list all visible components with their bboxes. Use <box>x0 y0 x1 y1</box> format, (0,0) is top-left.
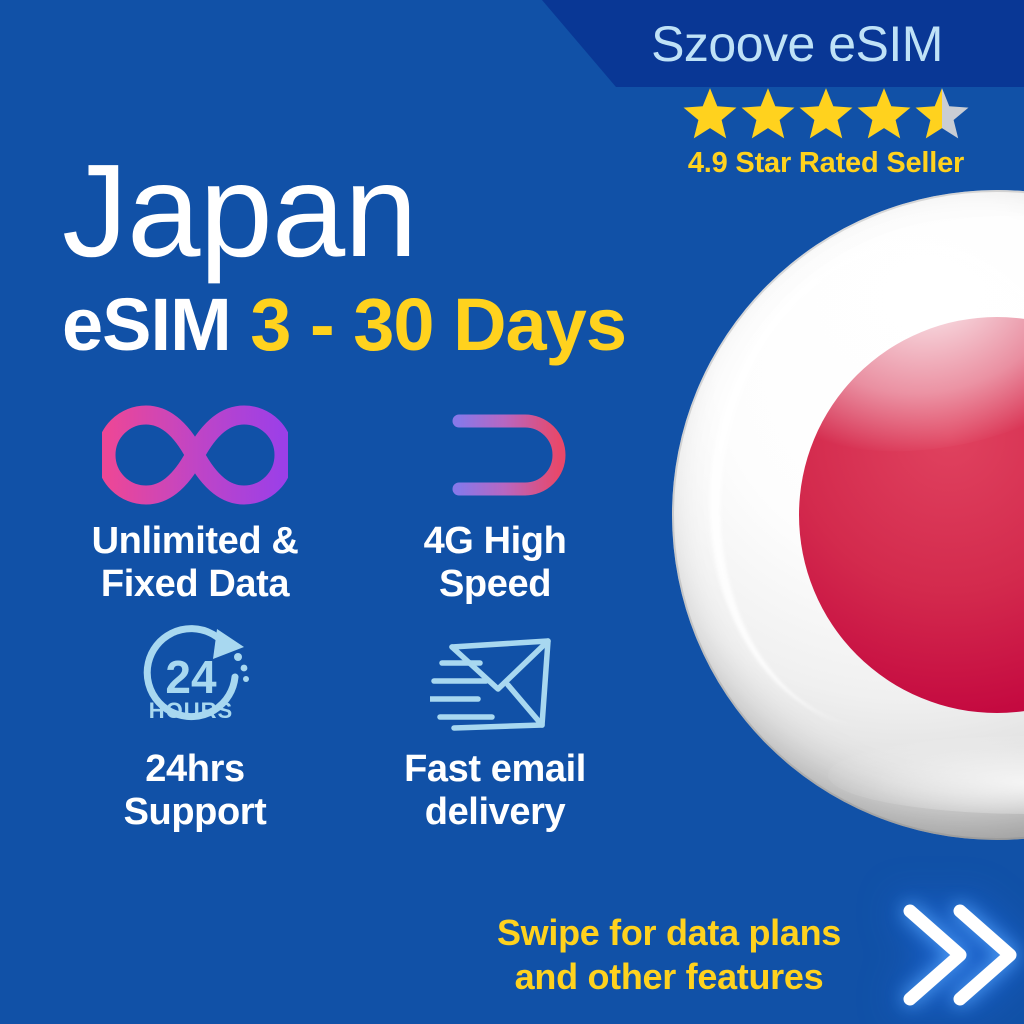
page-title-country: Japan <box>62 145 417 277</box>
feature-4g-speed: 4G High Speed <box>350 400 640 628</box>
feature-email-delivery: Fast email delivery <box>350 628 640 860</box>
feature-label-line2: Support <box>124 791 267 833</box>
subtitle-product: eSIM <box>62 283 231 366</box>
feature-label-line2: delivery <box>425 791 565 833</box>
swipe-cta-text: Swipe for data plans and other features <box>452 911 886 999</box>
swipe-cta-line1: Swipe for data plans <box>497 912 841 953</box>
feature-label-line2: Speed <box>439 563 551 605</box>
brand-name: Szoove eSIM <box>530 0 1024 87</box>
star-icon-3 <box>799 87 853 139</box>
star-icon-5-half <box>915 87 969 139</box>
feature-label-line1: 4G High <box>424 520 567 562</box>
swipe-cta[interactable]: Swipe for data plans and other features <box>452 896 1024 1014</box>
feature-label-line2: Fixed Data <box>101 563 289 605</box>
seller-rating-block: 4.9 Star Rated Seller <box>628 88 1024 180</box>
svg-text:HOURS: HOURS <box>149 698 233 723</box>
double-chevron-right-icon[interactable] <box>898 899 1024 1011</box>
star-icon-2 <box>741 87 795 139</box>
orb-rim <box>672 190 1024 840</box>
star-icon-4 <box>857 87 911 139</box>
rating-caption: 4.9 Star Rated Seller <box>688 147 964 180</box>
feature-label-line1: Fast email <box>404 748 586 790</box>
feature-unlimited-data: Unlimited & Fixed Data <box>40 400 350 628</box>
feature-label-line1: 24hrs <box>145 748 244 790</box>
feature-grid: Unlimited & Fixed Data <box>40 400 640 860</box>
feature-label-24hrs-support: 24hrs Support <box>124 748 267 834</box>
flying-envelope-icon <box>430 628 560 738</box>
page-subtitle: eSIM 3 - 30 Days <box>62 288 626 362</box>
feature-label-4g-speed: 4G High Speed <box>424 520 567 606</box>
speed-icon <box>419 400 571 510</box>
feature-label-email-delivery: Fast email delivery <box>404 748 586 834</box>
esim-promo-poster: Szoove eSIM <box>0 0 1024 1024</box>
feature-24hrs-support: 24 HOURS 24hrs Support <box>40 628 350 860</box>
swipe-cta-line2: and other features <box>515 956 824 997</box>
feature-label-line1: Unlimited & <box>92 520 299 562</box>
feature-label-unlimited-data: Unlimited & Fixed Data <box>92 520 299 606</box>
svg-text:24: 24 <box>165 651 217 703</box>
infinity-icon <box>102 400 288 510</box>
star-icon-1 <box>683 87 737 139</box>
japan-flag-orb <box>672 190 1024 840</box>
star-rating <box>683 88 969 138</box>
subtitle-duration: 3 - 30 Days <box>250 283 626 366</box>
24-hours-clock-icon: 24 HOURS <box>134 628 256 738</box>
